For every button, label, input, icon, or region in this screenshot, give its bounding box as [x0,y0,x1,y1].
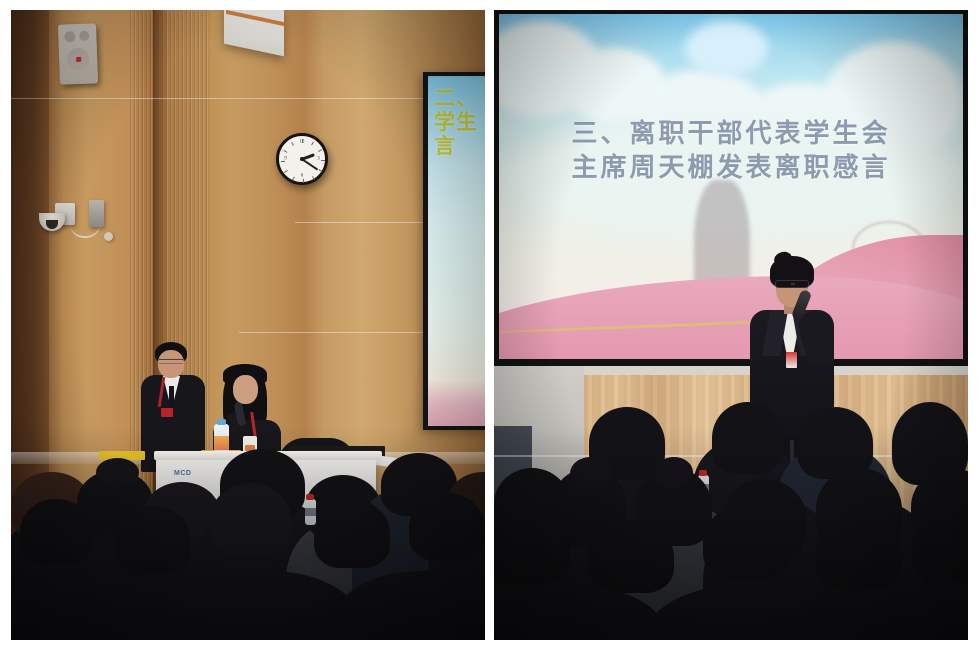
projector-screen-right: 三、离职干部代表学生会 主席周天棚发表离职感言 [494,10,968,366]
slide-left-title-line2: 学生 [434,110,485,134]
photo-left: 12 3 6 9 二、 学生 言 团委 学生 学生 组织 纪检 宣传 文艺 体育 [11,10,485,640]
slide-left-title-line3: 言 [434,134,485,158]
electrical-junction-box [89,200,104,227]
slide-left-title: 二、 [434,86,485,110]
photo-right: 三、离职干部代表学生会 主席周天棚发表离职感言 [494,10,968,640]
glasses-icon [775,280,809,288]
presentation-slide: 三、离职干部代表学生会 主席周天棚发表离职感言 [499,14,963,359]
slide-wave-pink [499,276,963,359]
screenshot-canvas: 12 3 6 9 二、 学生 言 团委 学生 学生 组织 纪检 宣传 文艺 体育 [0,0,980,648]
audience-crowd-right-frontrow [494,501,968,640]
glasses-icon [159,359,183,364]
slide-title: 三、离职干部代表学生会 主席周天棚发表离职感言 [499,117,963,185]
power-outlet-icon [104,232,113,241]
wall-seam-upper [11,98,485,99]
wall-clock-icon: 12 3 6 9 [276,133,328,185]
audience-crowd-left-midrow [11,476,485,640]
speaker-led-indicator [76,57,81,62]
slide-title-line1: 三、离职干部代表学生会 [499,117,963,151]
wall-speaker-icon [58,23,98,84]
projector-screen-left: 二、 学生 言 团委 学生 学生 组织 纪检 宣传 文艺 体育 外联 学习 生活… [423,72,485,430]
